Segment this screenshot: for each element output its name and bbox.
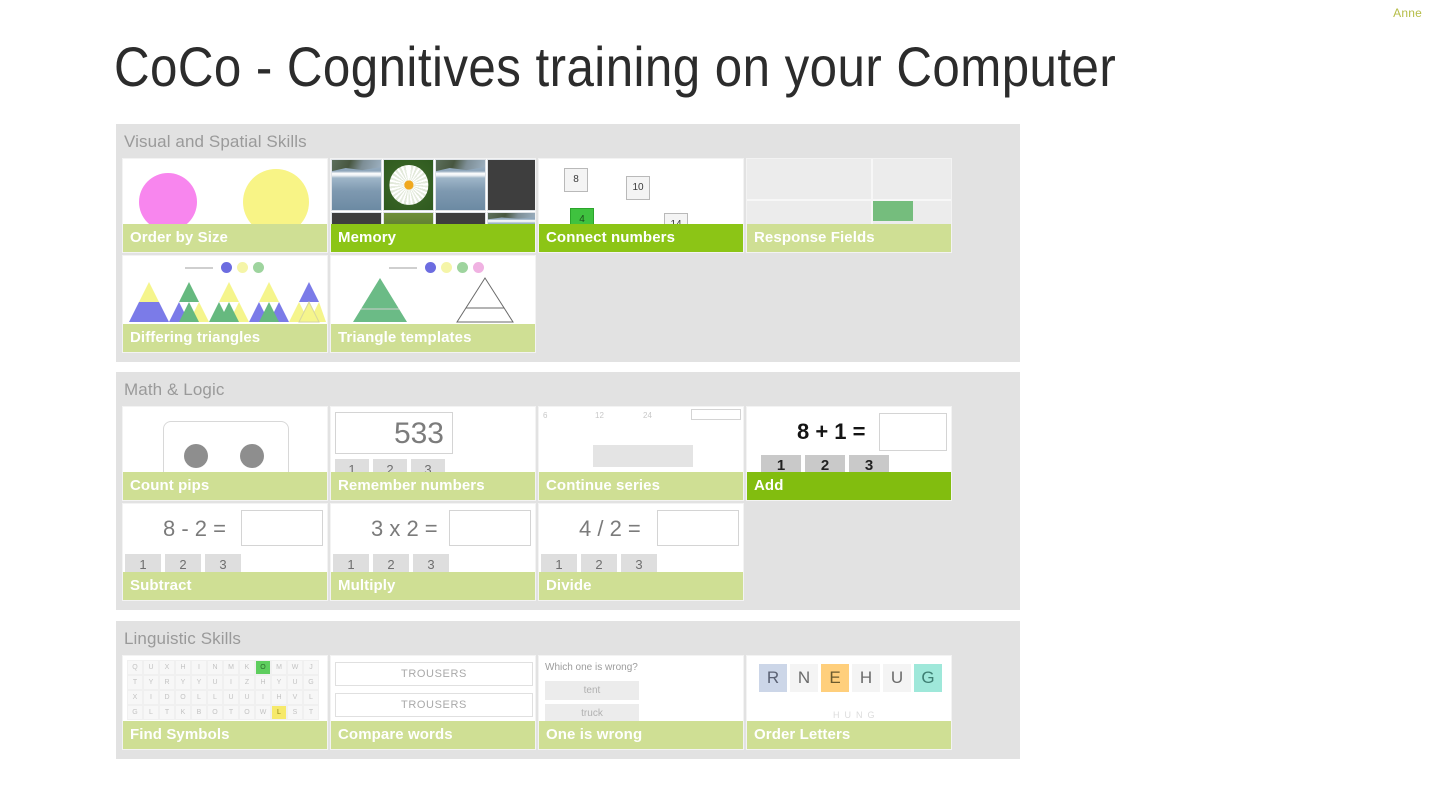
letter-cell[interactable]: Y <box>143 675 159 690</box>
section-visual-spatial: Visual and Spatial Skills Order by Size <box>116 124 1020 362</box>
tile-continue-series[interactable]: 6 12 24 Continue series <box>538 406 744 501</box>
letter-tile[interactable]: U <box>883 664 911 692</box>
letter-cell[interactable]: Y <box>271 675 287 690</box>
letter-cell[interactable]: J <box>303 660 319 675</box>
tile-triangle-templates[interactable]: Triangle templates <box>330 255 536 353</box>
letter-cell[interactable]: L <box>207 690 223 705</box>
letter-cell[interactable]: T <box>159 705 175 720</box>
letter-cell[interactable]: O <box>207 705 223 720</box>
tile-multiply[interactable]: 3 x 2 = 1 2 3 Multiply <box>330 503 536 601</box>
memory-card-flower-1 <box>383 159 434 211</box>
series-number: 6 <box>543 411 547 420</box>
letter-cell[interactable]: Z <box>239 675 255 690</box>
word-field-bottom[interactable]: TROUSERS <box>335 693 533 717</box>
letter-cell[interactable]: H <box>175 660 191 675</box>
letter-tile[interactable]: G <box>914 664 942 692</box>
tile-label: Compare words <box>331 721 535 749</box>
page-title: CoCo - Cognitives training on your Compu… <box>114 34 1116 99</box>
tile-one-is-wrong[interactable]: Which one is wrong? tent truck One is wr… <box>538 655 744 750</box>
tile-label: Count pips <box>123 472 327 500</box>
palette-dot-blue <box>221 262 232 273</box>
tile-find-symbols[interactable]: QUXHINMKOMWJTYRYYUIZHYUGXIDOLLUUIHVLGLTK… <box>122 655 328 750</box>
tile-label: One is wrong <box>539 721 743 749</box>
tile-label: Continue series <box>539 472 743 500</box>
letter-tile[interactable]: E <box>821 664 849 692</box>
letter-tile[interactable]: H <box>852 664 880 692</box>
tile-label: Order by Size <box>123 224 327 252</box>
palette-line <box>389 267 417 269</box>
tile-label: Subtract <box>123 572 327 600</box>
dice-pip <box>184 444 208 468</box>
tile-response-fields[interactable]: Response Fields <box>746 158 952 253</box>
letter-cell[interactable]: T <box>303 705 319 720</box>
tile-divide[interactable]: 4 / 2 = 1 2 3 Divide <box>538 503 744 601</box>
letter-cell[interactable]: Q <box>127 660 143 675</box>
tile-label: Add <box>747 472 951 500</box>
option-button[interactable]: tent <box>545 681 639 700</box>
letter-cell[interactable]: M <box>223 660 239 675</box>
letter-cell[interactable]: K <box>175 705 191 720</box>
answer-ghost-text: HUNG <box>833 710 880 720</box>
section-title: Linguistic Skills <box>124 629 241 649</box>
letter-cell[interactable]: K <box>239 660 255 675</box>
tile-label: Multiply <box>331 572 535 600</box>
letter-cell[interactable]: I <box>191 660 207 675</box>
number-display[interactable]: 533 <box>335 412 453 454</box>
letter-cell[interactable]: G <box>303 675 319 690</box>
grid-line-h <box>747 199 951 201</box>
letter-cell[interactable]: B <box>191 705 207 720</box>
letter-cell[interactable]: U <box>223 690 239 705</box>
tile-order-by-size[interactable]: Order by Size <box>122 158 328 253</box>
tile-label: Connect numbers <box>539 224 743 252</box>
letter-cell[interactable]: V <box>287 690 303 705</box>
letter-cell[interactable]: Y <box>175 675 191 690</box>
letter-cell[interactable]: W <box>255 705 271 720</box>
letter-cell[interactable]: S <box>287 705 303 720</box>
tile-label: Differing triangles <box>123 324 327 352</box>
palette-line <box>185 267 213 269</box>
letter-cell[interactable]: U <box>239 690 255 705</box>
letter-grid: QUXHINMKOMWJTYRYYUIZHYUGXIDOLLUUIHVLGLTK… <box>127 660 325 720</box>
section-title: Math & Logic <box>124 380 224 400</box>
palette-dot-blue <box>425 262 436 273</box>
tile-remember-numbers[interactable]: 533 1 2 3 Remember numbers <box>330 406 536 501</box>
letter-cell[interactable]: X <box>127 690 143 705</box>
section-math-logic: Math & Logic Count pips 533 1 2 3 <box>116 372 1020 610</box>
response-green-cell <box>873 201 913 221</box>
series-answer-input[interactable] <box>691 409 741 420</box>
series-number: 12 <box>595 411 604 420</box>
tile-label: Find Symbols <box>123 721 327 749</box>
letter-cell[interactable]: O <box>175 690 191 705</box>
tile-memory[interactable]: Memory <box>330 158 536 253</box>
tile-differing-triangles[interactable]: Differing triangles <box>122 255 328 353</box>
tile-label: Triangle templates <box>331 324 535 352</box>
letter-cell[interactable]: L <box>191 690 207 705</box>
tile-label: Remember numbers <box>331 472 535 500</box>
letter-cell[interactable]: I <box>255 690 271 705</box>
letter-cell[interactable]: Y <box>191 675 207 690</box>
number-cell[interactable]: 8 <box>564 168 588 192</box>
tile-compare-words[interactable]: TROUSERS TROUSERS Compare words <box>330 655 536 750</box>
letter-cell[interactable]: D <box>159 690 175 705</box>
equation-text: 8 + 1 = <box>797 419 866 445</box>
letter-cell[interactable]: N <box>207 660 223 675</box>
letter-cell[interactable]: H <box>271 690 287 705</box>
letter-cell[interactable]: R <box>159 675 175 690</box>
equation-text: 8 - 2 = <box>163 516 226 542</box>
letter-cell[interactable]: U <box>287 675 303 690</box>
tile-label: Order Letters <box>747 721 951 749</box>
memory-card-back-1 <box>487 159 535 211</box>
dice-pip <box>240 444 264 468</box>
letter-cell[interactable]: T <box>127 675 143 690</box>
user-name-label[interactable]: Anne <box>1393 6 1422 20</box>
letter-cell[interactable]: U <box>207 675 223 690</box>
letter-cell[interactable]: L <box>271 705 287 720</box>
tile-grid: Order by Size Memory 8 <box>120 158 1016 358</box>
tile-subtract[interactable]: 8 - 2 = 1 2 3 Subtract <box>122 503 328 601</box>
letter-cell[interactable]: I <box>143 690 159 705</box>
tile-label: Memory <box>331 224 535 252</box>
letter-cell[interactable]: M <box>271 660 287 675</box>
palette-dot-pink <box>473 262 484 273</box>
tile-count-pips[interactable]: Count pips <box>122 406 328 501</box>
palette-dot-green <box>457 262 468 273</box>
memory-card-beach-2 <box>435 159 486 211</box>
tile-label: Response Fields <box>747 224 951 252</box>
letter-cell[interactable]: L <box>303 690 319 705</box>
letter-cell[interactable]: I <box>223 675 239 690</box>
letter-cell[interactable]: O <box>255 660 271 675</box>
equation-text: 3 x 2 = <box>371 516 438 542</box>
letter-cell[interactable]: X <box>159 660 175 675</box>
circle-pink <box>139 173 197 231</box>
letter-cell[interactable]: U <box>143 660 159 675</box>
section-linguistic: Linguistic Skills QUXHINMKOMWJTYRYYUIZHY… <box>116 621 1020 759</box>
memory-card-beach-1 <box>331 159 382 211</box>
answer-input[interactable] <box>657 510 739 546</box>
palette-dot-yellow <box>441 262 452 273</box>
tile-order-letters[interactable]: R N E H U G HUNG Order Letters <box>746 655 952 750</box>
letter-cell[interactable]: L <box>143 705 159 720</box>
letter-cell[interactable]: H <box>255 675 271 690</box>
palette-dot-green <box>253 262 264 273</box>
letter-cell[interactable]: W <box>287 660 303 675</box>
series-choice-bar[interactable] <box>593 445 693 467</box>
answer-input[interactable] <box>449 510 531 546</box>
answer-input[interactable] <box>241 510 323 546</box>
triangle-shapes <box>335 276 535 324</box>
question-text: Which one is wrong? <box>545 662 638 673</box>
palette-dot-yellow <box>237 262 248 273</box>
app-root: Anne CoCo - Cognitives training on your … <box>0 0 1440 810</box>
letter-tile[interactable]: N <box>790 664 818 692</box>
number-cell[interactable]: 10 <box>626 176 650 200</box>
letter-cell[interactable]: O <box>239 705 255 720</box>
color-palette <box>185 262 264 273</box>
tile-add[interactable]: 8 + 1 = 1 2 3 Add <box>746 406 952 501</box>
tile-grid: QUXHINMKOMWJTYRYYUIZHYUGXIDOLLUUIHVLGLTK… <box>120 655 1016 755</box>
tile-label: Divide <box>539 572 743 600</box>
tile-connect-numbers[interactable]: 8 10 4 14 Connect numbers <box>538 158 744 253</box>
answer-input[interactable] <box>879 413 947 451</box>
letter-tile[interactable]: R <box>759 664 787 692</box>
color-palette <box>389 262 484 273</box>
equation-text: 4 / 2 = <box>579 516 641 542</box>
series-number: 24 <box>643 411 652 420</box>
letter-cell[interactable]: T <box>223 705 239 720</box>
section-title: Visual and Spatial Skills <box>124 132 307 152</box>
tile-grid: Count pips 533 1 2 3 Remember numbers 6 … <box>120 406 1016 606</box>
word-field-top[interactable]: TROUSERS <box>335 662 533 686</box>
letter-cell[interactable]: G <box>127 705 143 720</box>
